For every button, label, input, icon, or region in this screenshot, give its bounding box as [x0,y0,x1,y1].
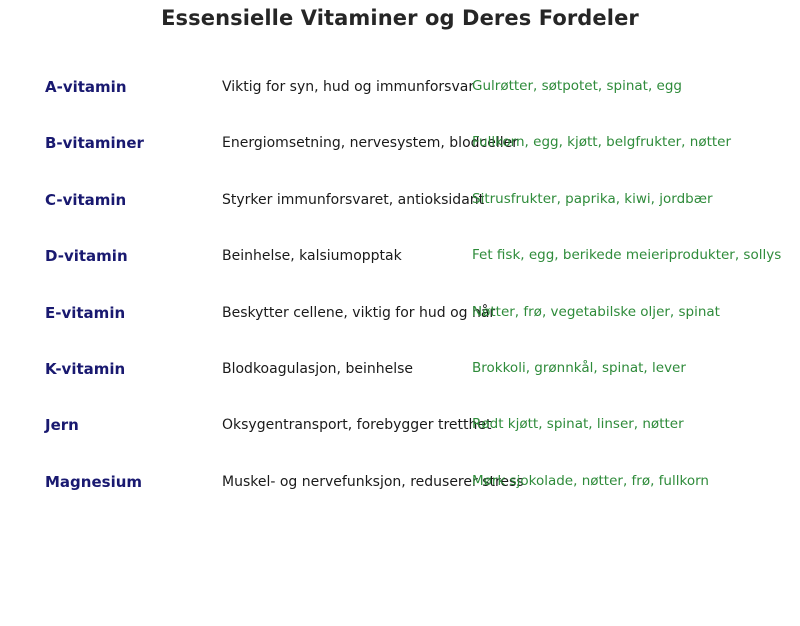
nutrient-sources: Fet fisk, egg, berikede meieriprodukter,… [472,249,781,263]
nutrient-name: E-vitamin [45,306,125,321]
nutrient-name: A-vitamin [45,80,127,95]
nutrient-name: Magnesium [45,475,142,490]
nutrient-benefit: Beskytter cellene, viktig for hud og hår [222,306,495,320]
table-row: D-vitaminBeinhelse, kalsiumopptakFet fis… [0,249,800,305]
table-row: K-vitaminBlodkoagulasjon, beinhelseBrokk… [0,362,800,418]
table-row: JernOksygentransport, forebygger tretthe… [0,418,800,474]
nutrient-name: D-vitamin [45,249,128,264]
nutrient-benefit: Beinhelse, kalsiumopptak [222,249,402,263]
nutrient-name: K-vitamin [45,362,125,377]
table-row: A-vitaminViktig for syn, hud og immunfor… [0,80,800,136]
page-title: Essensielle Vitaminer og Deres Fordeler [0,0,800,30]
nutrient-sources: Gulrøtter, søtpotet, spinat, egg [472,80,682,94]
nutrient-name: Jern [45,418,79,433]
nutrient-sources: Mørk sjokolade, nøtter, frø, fullkorn [472,475,709,489]
nutrient-sources: Sitrusfrukter, paprika, kiwi, jordbær [472,193,713,207]
nutrient-name: C-vitamin [45,193,126,208]
table-row: B-vitaminerEnergiomsetning, nervesystem,… [0,136,800,192]
nutrient-sources: Nøtter, frø, vegetabilske oljer, spinat [472,306,720,320]
nutrient-name: B-vitaminer [45,136,144,151]
table-row: C-vitaminStyrker immunforsvaret, antioks… [0,193,800,249]
nutrient-benefit: Oksygentransport, forebygger tretthet [222,418,492,432]
nutrient-sources: Fullkorn, egg, kjøtt, belgfrukter, nøtte… [472,136,731,150]
nutrient-benefit: Styrker immunforsvaret, antioksidant [222,193,484,207]
nutrient-benefit: Viktig for syn, hud og immunforsvar [222,80,474,94]
table-row: MagnesiumMuskel- og nervefunksjon, redus… [0,475,800,531]
table-row: E-vitaminBeskytter cellene, viktig for h… [0,306,800,362]
nutrient-sources: Rødt kjøtt, spinat, linser, nøtter [472,418,684,432]
nutrient-sources: Brokkoli, grønnkål, spinat, lever [472,362,686,376]
nutrient-benefit: Blodkoagulasjon, beinhelse [222,362,413,376]
nutrient-table: A-vitaminViktig for syn, hud og immunfor… [0,80,800,531]
